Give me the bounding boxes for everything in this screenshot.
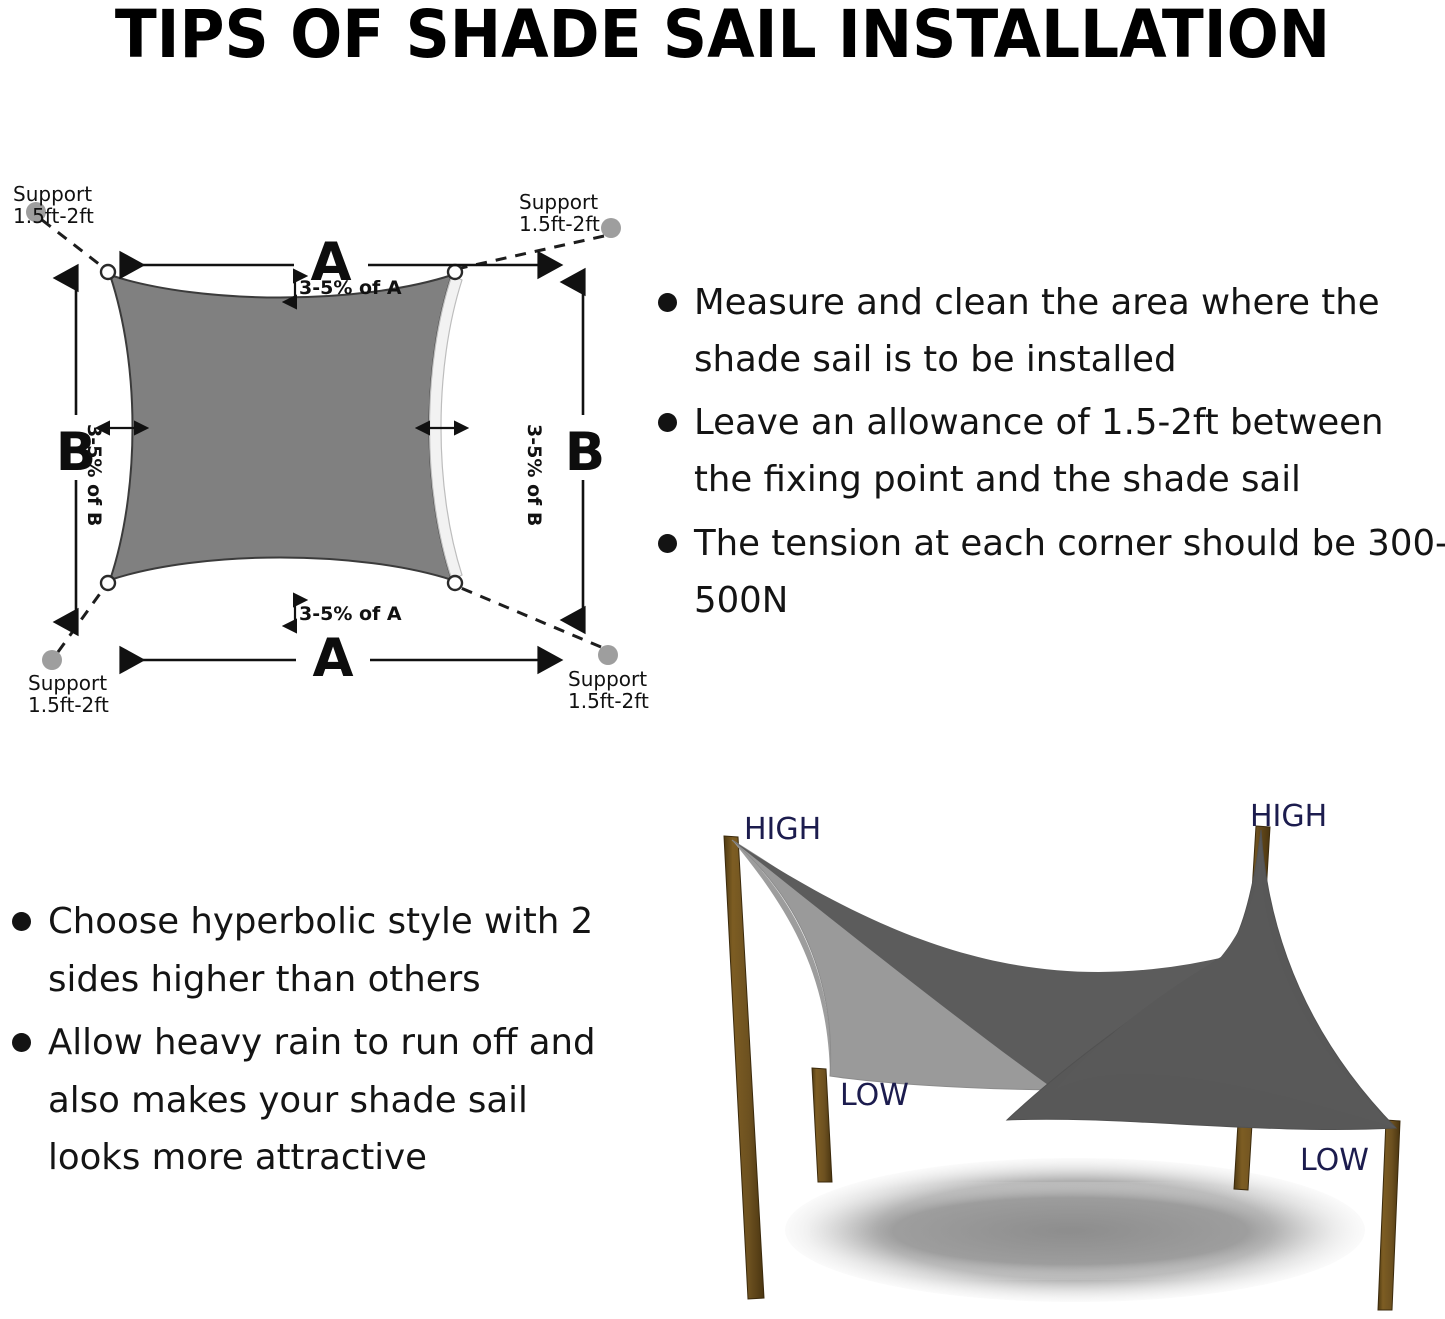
support-dot-bottom-right — [598, 645, 618, 665]
support-label-top-right: Support 1.5ft-2ft — [519, 191, 600, 236]
tip-text: Allow heavy rain to run off and also mak… — [48, 1014, 627, 1187]
eyelet-top-left-icon — [101, 265, 115, 279]
support-label-bottom-left-line2: 1.5ft-2ft — [28, 694, 109, 716]
hyperbolic-sail-svg — [660, 790, 1445, 1319]
pole-front-right — [1378, 1120, 1400, 1310]
list-item: The tension at each corner should be 300… — [648, 515, 1445, 629]
dimension-label-a-bottom: A — [312, 628, 353, 689]
tip-text: Choose hyperbolic style with 2 sides hig… — [48, 893, 627, 1008]
support-label-top-right-line1: Support — [519, 191, 600, 213]
curve-caption-right: 3-5% of B — [523, 424, 544, 526]
bullet-icon — [658, 413, 677, 432]
list-item: Measure and clean the area where the sha… — [648, 274, 1445, 388]
tip-text: Measure and clean the area where the sha… — [694, 274, 1445, 388]
bullet-icon — [12, 1033, 31, 1052]
support-label-bottom-right: Support 1.5ft-2ft — [568, 668, 649, 713]
curve-caption-top: 3-5% of A — [299, 278, 402, 299]
hyperbolic-sail-illustration: HIGH HIGH LOW LOW — [660, 790, 1445, 1319]
list-item: Leave an allowance of 1.5-2ft between th… — [648, 394, 1445, 508]
tension-line-top-right — [461, 236, 604, 268]
tension-line-bottom-left — [58, 588, 104, 652]
support-label-bottom-right-line2: 1.5ft-2ft — [568, 690, 649, 712]
support-label-bottom-left-line1: Support — [28, 672, 109, 694]
support-dot-bottom-left — [42, 650, 62, 670]
bullet-icon — [658, 293, 677, 312]
pole-front-left — [812, 1068, 832, 1182]
dimension-label-b-right: B — [565, 422, 605, 483]
support-label-bottom-right-line1: Support — [568, 668, 649, 690]
bullet-icon — [12, 912, 31, 931]
installation-tips-list-bottom: Choose hyperbolic style with 2 sides hig… — [2, 893, 627, 1193]
sail-shape — [110, 275, 452, 580]
ground-shadow-core — [810, 1182, 1330, 1280]
bullet-icon — [658, 534, 677, 553]
tip-text: The tension at each corner should be 300… — [694, 515, 1445, 629]
page-title: TIPS OF SHADE SAIL INSTALLATION — [51, 0, 1395, 73]
eyelet-bottom-right-icon — [448, 576, 462, 590]
curve-caption-left: 3-5% of B — [83, 424, 104, 526]
label-high-right: HIGH — [1250, 799, 1327, 834]
support-label-top-left-line1: Support — [13, 183, 94, 205]
curve-caption-bottom: 3-5% of A — [299, 604, 402, 625]
pole-back-left — [724, 836, 764, 1299]
installation-tips-list-right: Measure and clean the area where the sha… — [648, 274, 1445, 635]
support-label-bottom-left: Support 1.5ft-2ft — [28, 672, 109, 717]
eyelet-bottom-left-icon — [101, 576, 115, 590]
support-label-top-left-line2: 1.5ft-2ft — [13, 205, 94, 227]
list-item: Allow heavy rain to run off and also mak… — [2, 1014, 627, 1187]
tension-line-bottom-right — [461, 588, 601, 647]
label-low-right: LOW — [1300, 1143, 1369, 1178]
support-dot-top-right — [601, 218, 621, 238]
label-high-left: HIGH — [744, 812, 821, 847]
eyelet-top-right-icon — [448, 265, 462, 279]
support-label-top-left: Support 1.5ft-2ft — [13, 183, 94, 228]
support-label-top-right-line2: 1.5ft-2ft — [519, 213, 600, 235]
label-low-left: LOW — [840, 1078, 909, 1113]
list-item: Choose hyperbolic style with 2 sides hig… — [2, 893, 627, 1008]
tip-text: Leave an allowance of 1.5-2ft between th… — [694, 394, 1445, 508]
